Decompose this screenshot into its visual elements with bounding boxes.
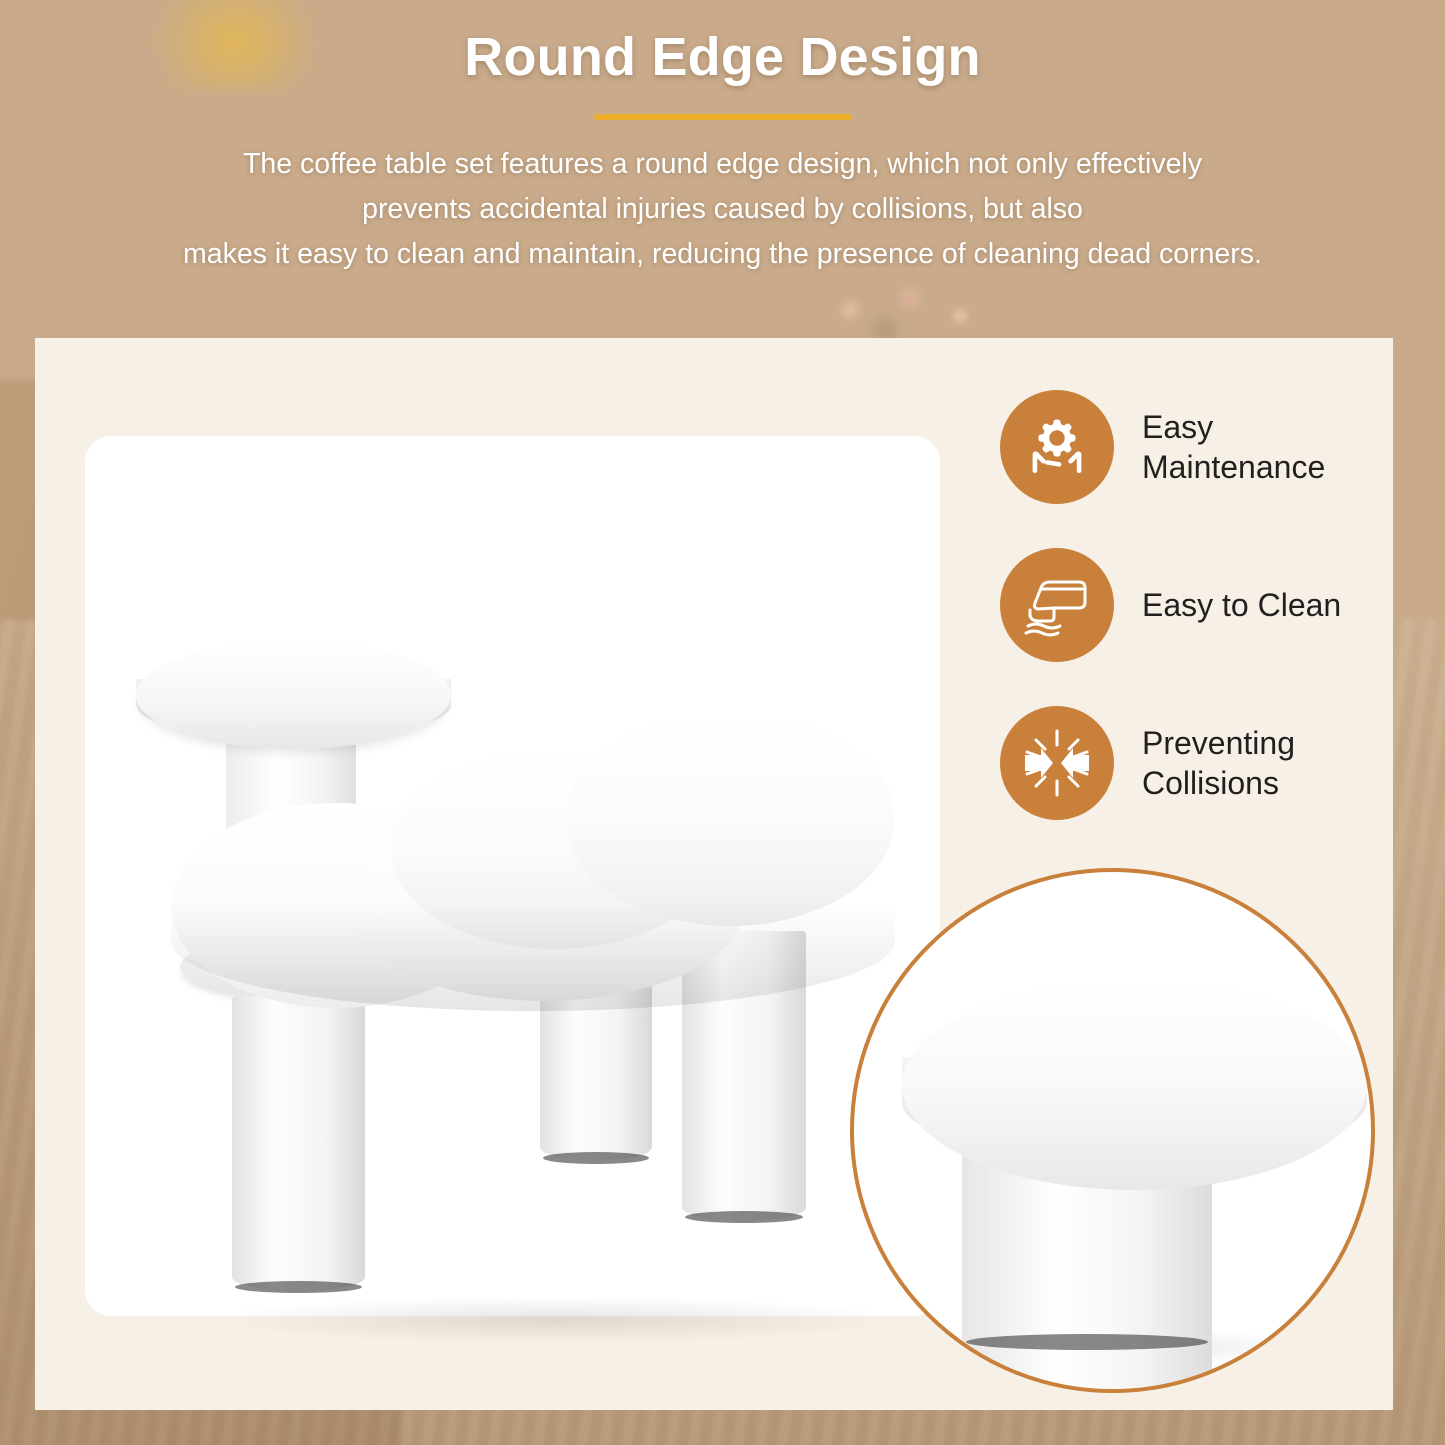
coffee-table-foot-back [543, 1152, 649, 1164]
feature-label-collision-line-1: Preventing [1142, 723, 1295, 763]
description-line-1: The coffee table set features a round ed… [0, 142, 1445, 187]
detail-zoom-inset [850, 868, 1375, 1393]
description-line-3: makes it easy to clean and maintain, red… [0, 232, 1445, 277]
coffee-table-shadow [205, 1296, 905, 1344]
detail-table-foot [966, 1334, 1208, 1350]
page-title: Round Edge Design [0, 26, 1445, 88]
feature-item-clean: Easy to Clean [1000, 548, 1390, 662]
hand-with-sponge-icon [1000, 548, 1114, 662]
product-feature-page: Round Edge Design The coffee table set f… [0, 0, 1445, 1445]
description-line-2: prevents accidental injuries caused by c… [0, 187, 1445, 232]
feature-item-collision: Preventing Collisions [1000, 706, 1390, 820]
feature-label-collision-line-2: Collisions [1142, 763, 1295, 803]
coffee-table-foot-right [685, 1211, 803, 1223]
product-image-card [85, 436, 940, 1316]
feature-label-collision: Preventing Collisions [1142, 723, 1295, 803]
feature-list: Easy Maintenance [1000, 390, 1390, 864]
title-underline [594, 114, 852, 120]
page-description: The coffee table set features a round ed… [0, 142, 1445, 277]
detail-table-top [902, 980, 1367, 1190]
detail-table-illustration [854, 872, 1371, 1389]
coffee-table-foot-front [235, 1281, 362, 1293]
header: Round Edge Design The coffee table set f… [0, 0, 1445, 277]
table-top-lobe-right [565, 711, 895, 926]
content-panel: Easy Maintenance [35, 338, 1393, 1410]
feature-label-maintenance: Easy Maintenance [1142, 407, 1390, 487]
hands-holding-gear-icon [1000, 390, 1114, 504]
feature-label-clean: Easy to Clean [1142, 585, 1341, 625]
feature-item-maintenance: Easy Maintenance [1000, 390, 1390, 504]
coffee-table-top [165, 691, 895, 1041]
collision-arrows-icon [1000, 706, 1114, 820]
product-illustration [85, 436, 940, 1316]
